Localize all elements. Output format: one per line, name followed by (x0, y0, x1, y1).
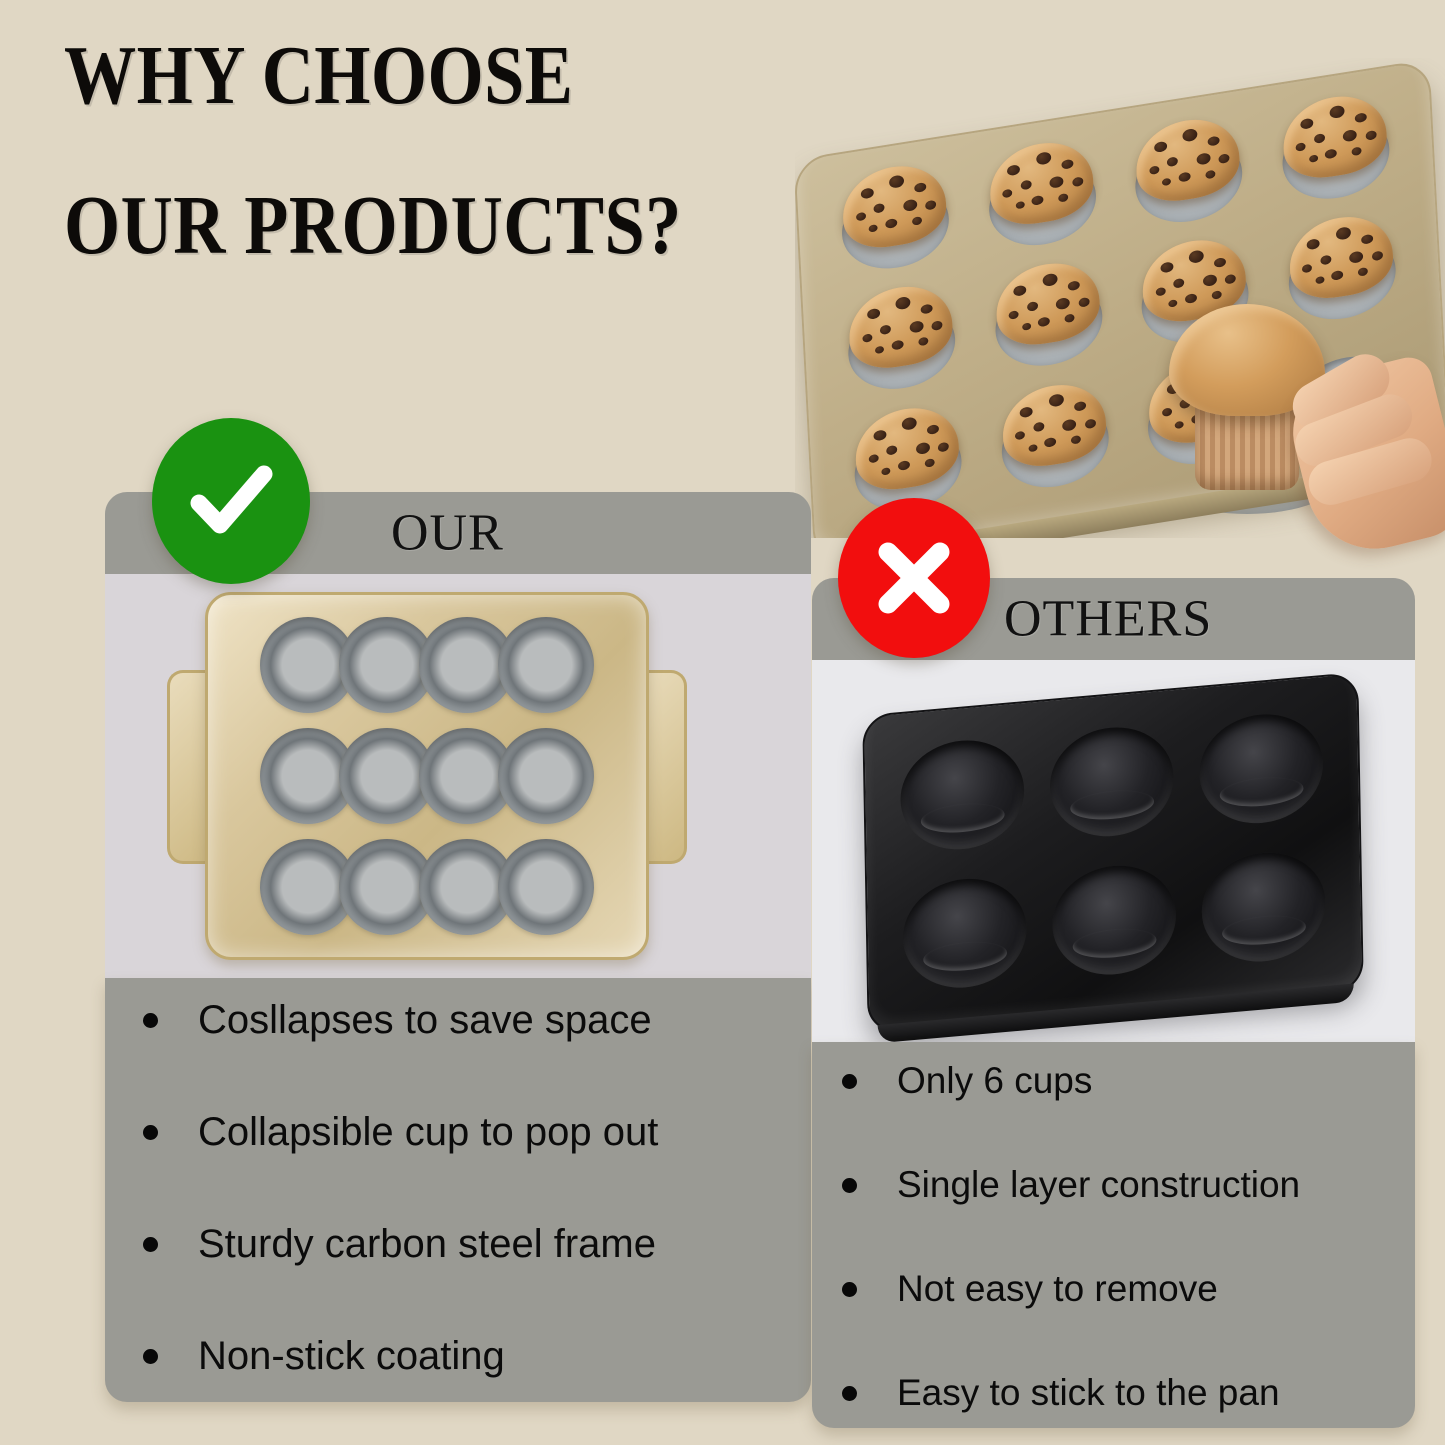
list-item-label: Non-stick coating (198, 1334, 505, 1379)
list-item: Single layer construction (842, 1164, 1300, 1206)
check-icon (152, 418, 310, 584)
pan-cup (1192, 837, 1336, 978)
hero-cup (982, 376, 1129, 509)
list-item: Non-stick coating (143, 1334, 505, 1379)
hero-cup (1262, 87, 1409, 220)
bullet-dot-icon (143, 1237, 158, 1252)
hero-cup (1116, 111, 1263, 244)
list-item-label: Not easy to remove (897, 1268, 1218, 1310)
pan-cup (350, 724, 426, 829)
hero-cup (975, 255, 1122, 388)
pan-cup (893, 863, 1037, 1004)
title-line-1: WHY CHOOSE (64, 34, 735, 118)
pan-cup (429, 724, 505, 829)
title-line-2: OUR PRODUCTS? (64, 184, 735, 268)
feature-list-others: Only 6 cups Single layer construction No… (812, 1042, 1415, 1428)
pan-cup-grid (270, 613, 584, 939)
list-item: Sturdy carbon steel frame (143, 1222, 656, 1267)
page-title: WHY CHOOSE OUR PRODUCTS? (64, 34, 844, 268)
hero-cup (829, 278, 976, 411)
pan-cup (429, 834, 505, 939)
pan-cup (509, 613, 585, 718)
pan-cup (350, 834, 426, 939)
list-item: Easy to stick to the pan (842, 1372, 1280, 1414)
list-item-label: Easy to stick to the pan (897, 1372, 1280, 1414)
bullet-dot-icon (842, 1282, 857, 1297)
pan-cup (350, 613, 426, 718)
list-item-label: Sturdy carbon steel frame (198, 1222, 656, 1267)
bullet-dot-icon (842, 1178, 857, 1193)
hero-cup (969, 134, 1116, 267)
bullet-dot-icon (842, 1074, 857, 1089)
feature-list-our: Cosllapses to save space Collapsible cup… (105, 978, 811, 1402)
pan-cup (270, 724, 346, 829)
list-item-label: Only 6 cups (897, 1060, 1092, 1102)
bullet-dot-icon (143, 1013, 158, 1028)
list-item-label: Cosllapses to save space (198, 998, 652, 1043)
bullet-dot-icon (143, 1349, 158, 1364)
pan-cup (270, 834, 346, 939)
pan-body (862, 672, 1364, 1034)
pan-cup-grid (890, 698, 1335, 1003)
pan-cup (1042, 850, 1186, 991)
hero-cup (822, 157, 969, 290)
pan-cup (509, 834, 585, 939)
card-label-others: OTHERS (1004, 590, 1212, 649)
list-item: Only 6 cups (842, 1060, 1092, 1102)
list-item-label: Single layer construction (897, 1164, 1300, 1206)
product-photo-others (812, 660, 1415, 1042)
pan-cup (509, 724, 585, 829)
cross-icon (838, 498, 990, 658)
gold-muffin-pan (167, 592, 687, 960)
card-label-our: OUR (391, 504, 504, 563)
bullet-dot-icon (143, 1125, 158, 1140)
pan-cup (1189, 698, 1333, 839)
pan-cup (270, 613, 346, 718)
pan-cup (890, 725, 1034, 866)
black-muffin-pan (862, 672, 1364, 1034)
list-item-label: Collapsible cup to pop out (198, 1110, 658, 1155)
bullet-dot-icon (842, 1386, 857, 1401)
pan-body (205, 592, 649, 960)
comparison-card-others: OTHERS Only 6 cups (812, 578, 1415, 1428)
pan-cup (429, 613, 505, 718)
comparison-card-our: OUR (105, 492, 811, 1402)
pan-cup (1040, 712, 1184, 853)
list-item: Collapsible cup to pop out (143, 1110, 658, 1155)
list-item: Cosllapses to save space (143, 998, 652, 1043)
product-photo-our (105, 574, 811, 978)
infographic-canvas: WHY CHOOSE OUR PRODUCTS? (0, 0, 1445, 1445)
list-item: Not easy to remove (842, 1268, 1218, 1310)
